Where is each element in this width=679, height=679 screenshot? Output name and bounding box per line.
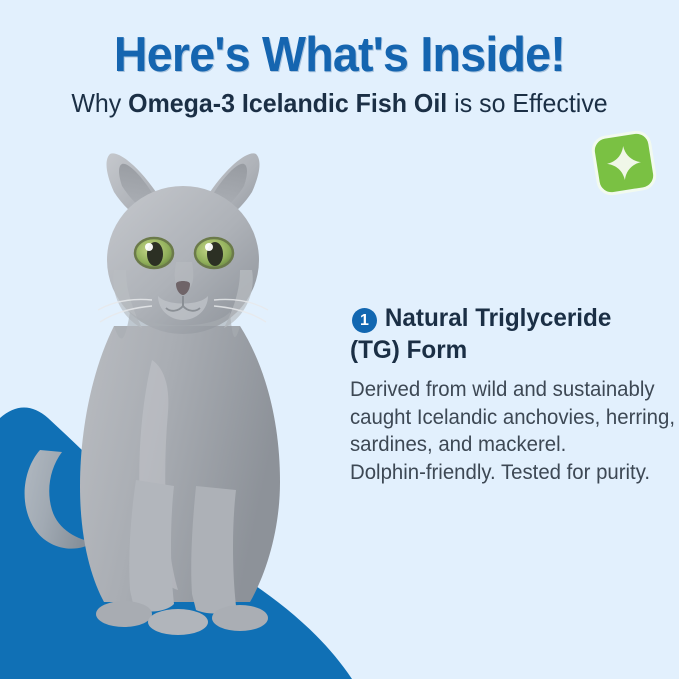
benefit-title-line-1: Natural Triglyceride xyxy=(385,304,611,332)
page-title: Here's What's Inside! xyxy=(17,30,662,82)
sparkle-icon xyxy=(604,143,644,183)
benefit-item-1: 1 Natural Triglyceride(TG) Form Derived … xyxy=(350,303,650,487)
benefit-description-line: Dolphin-friendly. Tested for purity. xyxy=(350,459,641,487)
benefit-title: Natural Triglyceride(TG) Form xyxy=(350,303,641,366)
infographic-panel: Here's What's Inside! Why Omega-3 Icelan… xyxy=(0,0,679,679)
benefit-description-line: sardines, and mackerel. xyxy=(350,431,641,459)
benefit-description: Derived from wild and sustainably caught… xyxy=(350,376,641,487)
page-subtitle: Why Omega-3 Icelandic Fish Oil is so Eff… xyxy=(14,89,666,119)
subtitle-emphasis: Omega-3 Icelandic Fish Oil xyxy=(128,88,447,118)
subtitle-suffix: is so Effective xyxy=(447,88,607,118)
benefit-description-line: caught Icelandic anchovies, herring, xyxy=(350,404,641,432)
benefit-description-line: Derived from wild and sustainably xyxy=(350,376,641,404)
cat-photo xyxy=(18,150,348,650)
header-block: Here's What's Inside! Why Omega-3 Icelan… xyxy=(0,30,679,119)
sparkle-badge xyxy=(590,129,659,198)
subtitle-prefix: Why xyxy=(71,88,128,118)
benefit-title-line-2: (TG) Form xyxy=(350,336,467,364)
